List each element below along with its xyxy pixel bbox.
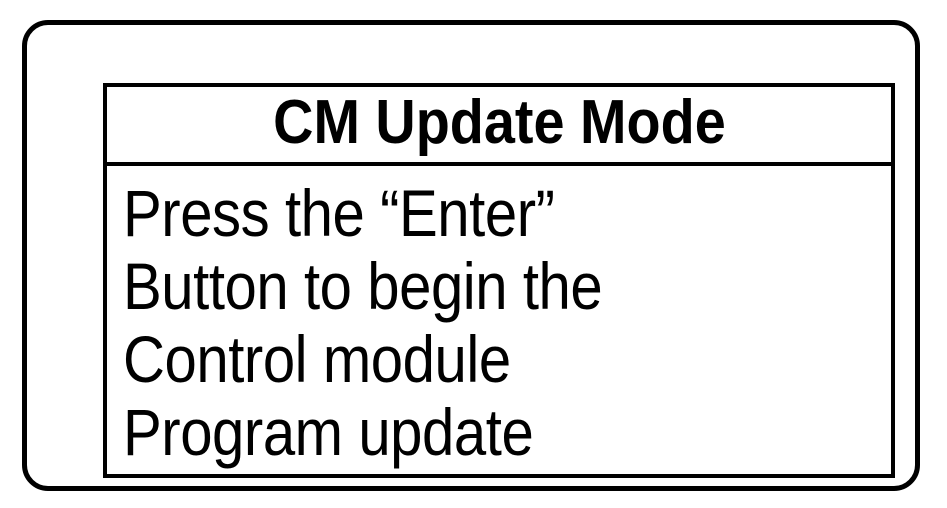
message-line-1: Press the “Enter”: [123, 177, 799, 250]
message-line-4: Program update: [123, 396, 799, 469]
message-line-2: Button to begin the: [123, 250, 799, 323]
panel-title-bar: CM Update Mode: [107, 87, 891, 166]
page-title: CM Update Mode: [273, 92, 726, 154]
panel-message-body: Press the “Enter” Button to begin the Co…: [107, 170, 891, 474]
display-panel: CM Update Mode Press the “Enter” Button …: [103, 83, 895, 478]
message-line-3: Control module: [123, 323, 799, 396]
device-bezel: CM Update Mode Press the “Enter” Button …: [22, 20, 920, 491]
